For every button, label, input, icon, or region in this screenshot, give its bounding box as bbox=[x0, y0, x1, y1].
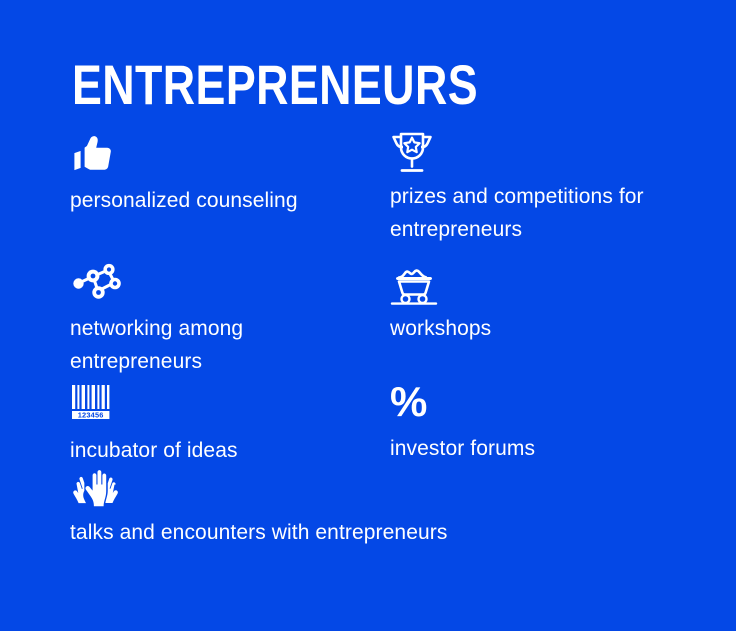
mine-cart-icon bbox=[390, 262, 700, 304]
percent-icon: % bbox=[390, 382, 690, 424]
feature-label: prizes and competitions for entrepreneur… bbox=[390, 180, 710, 246]
feature-item[interactable]: personalized counseling bbox=[70, 134, 370, 217]
feature-item[interactable]: workshops bbox=[390, 262, 700, 345]
svg-text:123456: 123456 bbox=[78, 411, 104, 420]
feature-label: investor forums bbox=[390, 432, 690, 465]
feature-item[interactable]: networking among entrepreneurs bbox=[70, 262, 370, 378]
trophy-star-icon bbox=[390, 130, 710, 172]
feature-label: networking among entrepreneurs bbox=[70, 312, 370, 378]
thumbs-up-icon bbox=[70, 134, 370, 176]
barcode-icon: 123456 bbox=[70, 384, 370, 426]
feature-item[interactable]: 123456 incubator of ideas bbox=[70, 384, 370, 467]
feature-label: incubator of ideas bbox=[70, 434, 370, 467]
slide-canvas: ENTREPRENEURS personalized counseling bbox=[0, 0, 736, 631]
network-nodes-icon bbox=[70, 262, 370, 304]
feature-label: workshops bbox=[390, 312, 700, 345]
feature-item[interactable]: % investor forums bbox=[390, 382, 690, 465]
feature-label: talks and encounters with entrepreneurs bbox=[70, 516, 630, 549]
feature-grid: personalized counseling prizes and compe… bbox=[0, 0, 736, 631]
feature-item[interactable]: talks and encounters with entrepreneurs bbox=[70, 466, 630, 549]
feature-item[interactable]: prizes and competitions for entrepreneur… bbox=[390, 130, 710, 246]
feature-label: personalized counseling bbox=[70, 184, 370, 217]
raised-hands-icon bbox=[70, 466, 630, 508]
